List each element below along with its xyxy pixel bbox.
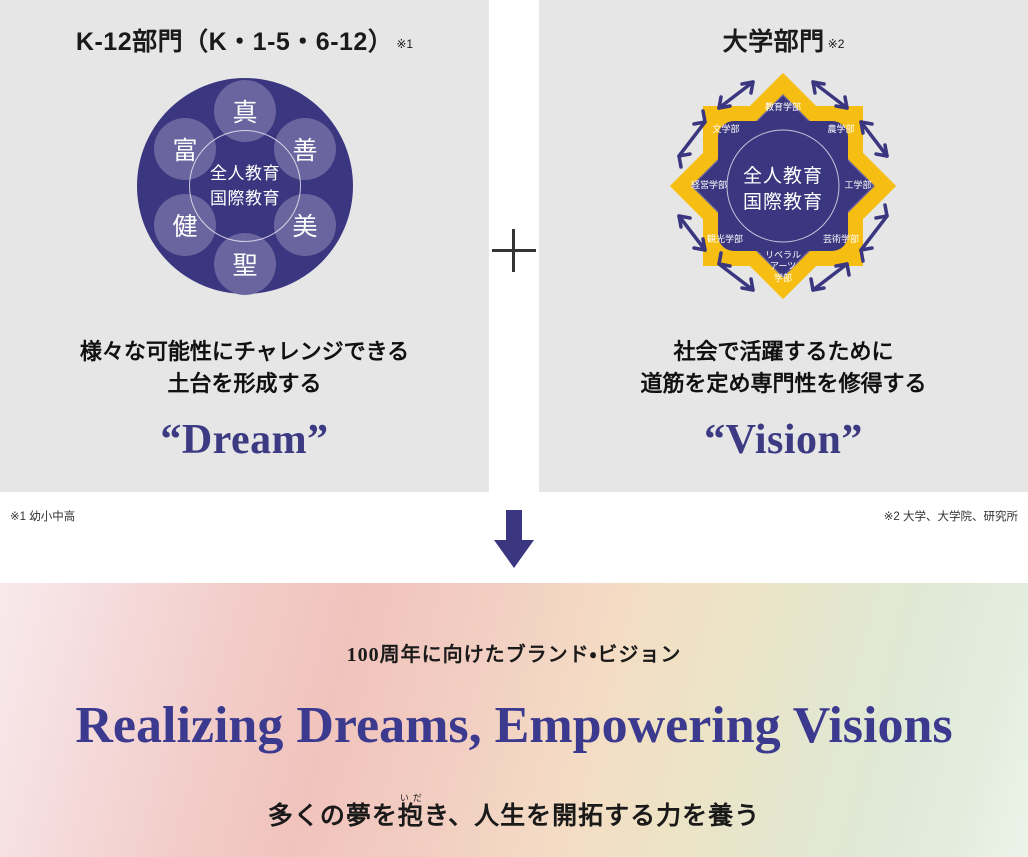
arrow-bottom-right: [811, 264, 849, 290]
panel-university-caption-line1: 社会で活躍するために: [539, 336, 1028, 368]
brand-vision-banner: 100周年に向けたブランド・ビジョン Realizing Dreams, Emp…: [0, 583, 1028, 857]
plus-icon: [489, 225, 539, 275]
panel-university-caption-line2: 道筋を定め専門性を修得する: [539, 368, 1028, 400]
panel-k12-caption: 様々な可能性にチャレンジできる 土台を形成する: [0, 336, 489, 400]
banner-subtitle: 100周年に向けたブランド・ビジョン: [0, 638, 1028, 667]
down-arrow-icon: [489, 510, 539, 572]
octagram-core-disc: [721, 124, 845, 248]
panel-k12-title: K-12部門（K・1-5・6-12）※1: [0, 22, 489, 58]
panel-k12-caption-line2: 土台を形成する: [0, 368, 489, 400]
circle-core-line1: 全人教育: [210, 161, 280, 187]
top-section: K-12部門（K・1-5・6-12）※1 真 善 美 聖 健 富 全人教育 国際…: [0, 0, 1028, 580]
footnote-right: ※2 大学、大学院、研究所: [884, 508, 1018, 524]
banner-tagline-ruby-text: いだ: [398, 793, 424, 803]
satellite-value-4: 聖: [214, 233, 276, 295]
arrow-top-left: [719, 82, 753, 108]
panel-k12-title-text: K-12部門（K・1-5・6-12）: [76, 28, 393, 56]
panel-k12-title-note: ※1: [396, 37, 413, 51]
university-octagram-diagram: 教育学部 農学部 工学部 芸術学部 リベラル アーツ 学部 観光学部 経営学部 …: [669, 72, 897, 300]
panel-k12: K-12部門（K・1-5・6-12）※1 真 善 美 聖 健 富 全人教育 国際…: [0, 0, 489, 492]
circle-core-line2: 国際教育: [210, 186, 280, 212]
panel-university-caption: 社会で活躍するために 道筋を定め専門性を修得する: [539, 336, 1028, 400]
arrow-top-right: [813, 82, 847, 108]
panel-k12-keyword: “Dream”: [0, 416, 489, 464]
panel-university-title-note: ※2: [828, 37, 845, 51]
arrow-right-top: [861, 122, 887, 156]
panel-k12-caption-line1: 様々な可能性にチャレンジできる: [0, 336, 489, 368]
banner-tagline-before: 多くの夢を: [268, 803, 398, 830]
panel-university-keyword: “Vision”: [539, 416, 1028, 464]
banner-tagline: 多くの夢を抱いだき、人生を開拓する力を養う: [0, 793, 1028, 832]
banner-tagline-after: き、人生を開拓する力を養う: [424, 803, 760, 830]
banner-headline: Realizing Dreams, Empowering Visions: [0, 696, 1028, 755]
k12-circle-diagram: 真 善 美 聖 健 富 全人教育 国際教育: [137, 78, 353, 294]
banner-tagline-ruby-base: 抱: [398, 803, 424, 830]
panel-university-title: 大学部門※2: [539, 22, 1028, 58]
circle-core: 全人教育 国際教育: [189, 130, 301, 242]
panel-university-title-text: 大学部門: [723, 28, 825, 56]
arrow-left-bottom: [679, 216, 705, 250]
banner-tagline-ruby: 抱いだ: [398, 803, 424, 830]
footnote-left: ※1 幼小中高: [10, 508, 75, 524]
